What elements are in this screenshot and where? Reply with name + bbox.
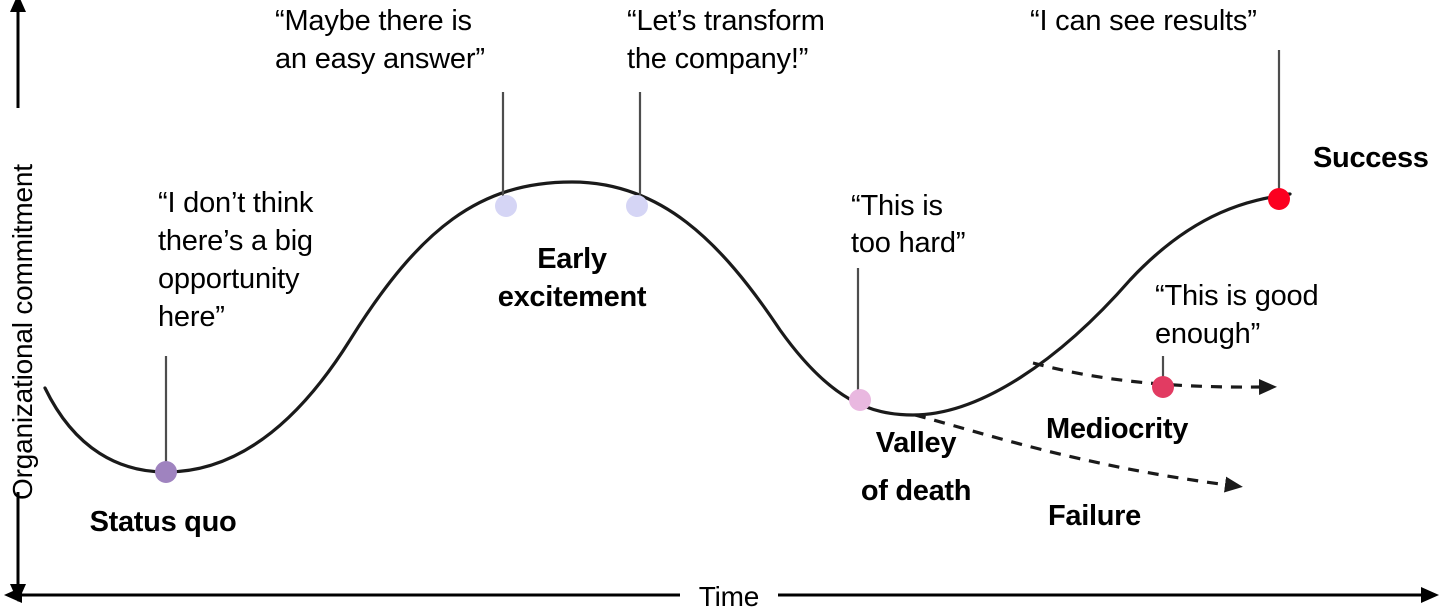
quote-see-results: “I can see results”	[1030, 5, 1257, 37]
diagram-canvas: Organizational commitment Time “I don’t	[0, 0, 1440, 608]
marker-early-excitement-right[interactable]	[626, 195, 648, 217]
marker-success[interactable]	[1268, 188, 1290, 210]
x-axis: Time	[18, 581, 1425, 608]
quote-transform: “Let’s transform the company!”	[627, 5, 825, 75]
stage-label-success: Success	[1313, 142, 1429, 174]
quote-too-hard-line2: too hard”	[851, 227, 965, 259]
quote-easy-answer-line1: “Maybe there is	[275, 5, 472, 37]
quote-see-results-line1: “I can see results”	[1030, 5, 1257, 37]
marker-mediocrity[interactable]	[1152, 376, 1174, 398]
stage-label-valley-line1: Valley	[876, 427, 957, 459]
quote-easy-answer: “Maybe there is an easy answer”	[275, 5, 485, 75]
y-axis: Organizational commitment	[7, 8, 38, 588]
mediocrity-branch-line	[1033, 363, 1262, 387]
marker-early-excitement-left[interactable]	[495, 195, 517, 217]
quote-easy-answer-line2: an easy answer”	[275, 43, 485, 75]
quote-status-quo-line4: here”	[158, 301, 225, 333]
y-axis-label: Organizational commitment	[7, 164, 38, 500]
quote-good-enough: “This is good enough”	[1155, 280, 1318, 350]
quote-too-hard: “This is too hard”	[851, 190, 965, 259]
quote-status-quo-line1: “I don’t think	[158, 187, 314, 219]
change-curve-diagram: Organizational commitment Time “I don’t	[0, 0, 1440, 608]
stage-label-status-quo: Status quo	[90, 506, 237, 538]
quote-good-enough-line1: “This is good	[1155, 280, 1318, 312]
quote-too-hard-line1: “This is	[851, 190, 943, 222]
quote-transform-line1: “Let’s transform	[627, 5, 825, 37]
quote-good-enough-line2: enough”	[1155, 318, 1260, 350]
marker-valley-of-death[interactable]	[849, 389, 871, 411]
stage-label-failure: Failure	[1048, 500, 1141, 532]
quote-status-quo-line2: there’s a big	[158, 225, 313, 257]
stage-label-mediocrity: Mediocrity	[1046, 413, 1188, 445]
x-axis-label: Time	[699, 581, 759, 608]
quote-status-quo: “I don’t think there’s a big opportunity…	[158, 187, 314, 333]
stage-label-early-excitement-line1: Early	[537, 243, 607, 275]
stage-label-valley-line2: of death	[861, 475, 971, 507]
quote-transform-line2: the company!”	[627, 43, 808, 75]
marker-status-quo[interactable]	[155, 461, 177, 483]
quote-status-quo-line3: opportunity	[158, 263, 300, 295]
stage-label-early-excitement-line2: excitement	[498, 281, 647, 313]
